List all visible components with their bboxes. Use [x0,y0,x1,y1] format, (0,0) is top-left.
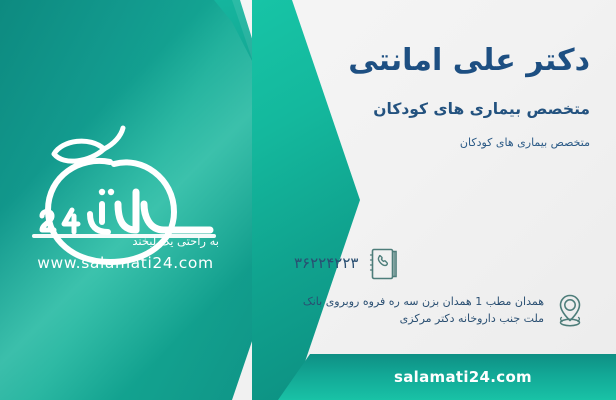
location-pin-icon [554,292,586,328]
clinic-address: همدان مطب 1 همدان بزن سه ره فروه روبروی … [294,293,544,327]
footer-bar: salamati24.com [310,354,616,400]
salamati24-logo: به راحتی یک لبخند www.salamati24.com [18,118,233,278]
logo-url[interactable]: www.salamati24.com [18,254,233,272]
logo-tagline: به راحتی یک لبخند [132,234,219,248]
contact-block: ۳۶۲۲۴۲۲۳ همدان مطب 1 همدان بزن سه ره فرو… [294,246,594,338]
footer-site-url[interactable]: salamati24.com [394,368,532,386]
doctor-name: دکتر علی امانتی [348,44,590,77]
doctor-specialty: متخصص بیماری های کودکان [373,100,590,118]
doctor-specialty-secondary: متخصص بیماری های کودکان [460,136,590,149]
doctor-profile-card: به راحتی یک لبخند www.salamati24.com دکت… [0,0,616,400]
contact-row-address[interactable]: همدان مطب 1 همدان بزن سه ره فروه روبروی … [294,292,594,328]
contact-row-phone[interactable]: ۳۶۲۲۴۲۲۳ [294,246,594,282]
phone-number: ۳۶۲۲۴۲۲۳ [294,252,358,275]
phone-book-icon [368,246,400,282]
